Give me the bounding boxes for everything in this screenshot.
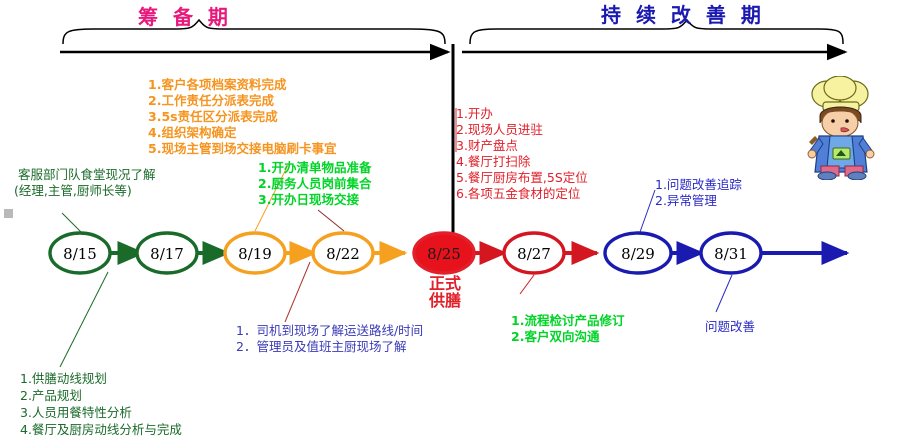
chef-character-icon [803, 76, 881, 180]
node-label-8-22[interactable]: 8/22 [313, 245, 373, 263]
annotation-red-open-item-4: 4.餐厅打扫除 [456, 155, 530, 170]
annotation-orange-prep-item-2: 2.工作责任分派表完成 [148, 94, 274, 109]
annotation-red-open-item-1: 1.开办 [456, 107, 493, 122]
annotation-green-plan-item-1: 1.供膳动线规划 [20, 372, 107, 387]
annotation-orange-prep-item-1: 1.客户各项档案资料完成 [148, 78, 286, 93]
phase-title-improvement: 持 续 改 善 期 [601, 4, 765, 28]
annotation-green-review-item-1: 1.流程检讨产品修订 [511, 314, 624, 329]
phase-title-preparation: 筹 备 期 [138, 6, 232, 30]
annotation-orange-prep-item-4: 4.组织架构确定 [148, 126, 236, 141]
annotation-green-review-item-2: 2.客户双向沟通 [511, 330, 599, 345]
annotation-blue-followup-item-1: 1.问题改善追踪 [655, 178, 742, 193]
annotation-green-plan-item-4: 4.餐厅及厨房动线分析与完成 [20, 423, 182, 438]
annotation-green-plan-item-2: 2.产品规划 [20, 389, 82, 404]
annotation-orange-prep-item-3: 3.5s责任区分派表完成 [148, 110, 278, 125]
leader-green-review [520, 275, 534, 294]
milestone-label-line-2: 供膳 [421, 292, 469, 310]
annotation-red-open-item-5: 5.餐厅厨房布置,5S定位 [456, 171, 588, 186]
annotation-blue-driver-item-2: 2．管理员及值班主厨现场了解 [236, 340, 406, 355]
leader-green-survey [62, 213, 82, 233]
annotation-green-open-item-3: 3.开办日现场交接 [258, 193, 359, 208]
node-label-8-31[interactable]: 8/31 [701, 245, 761, 263]
timeline-diagram: 筹 备 期 持 续 改 善 期 1.客户各项档案资料完成 2.工作责任分派表完成… [0, 0, 900, 443]
annotation-red-open-item-2: 2.现场人员进驻 [456, 123, 543, 138]
node-label-8-29[interactable]: 8/29 [608, 245, 668, 263]
annotation-blue-followup-item-2: 2.异常管理 [655, 194, 717, 209]
node-label-8-25[interactable]: 8/25 [414, 245, 474, 263]
annotation-green-open-item-2: 2.厨务人员岗前集合 [258, 177, 371, 192]
annotation-orange-prep-item-5: 5.现场主管到场交接电脑刷卡事宜 [148, 142, 336, 157]
annotation-green-plan-item-3: 3.人员用餐特性分析 [20, 406, 132, 421]
leader-blue-driver [285, 262, 310, 322]
annotation-red-open-item-6: 6.各项五金食材的定位 [456, 187, 580, 202]
leader-blue-followup [640, 190, 655, 232]
node-label-8-27[interactable]: 8/27 [504, 245, 564, 263]
leader-green-plan [60, 272, 108, 367]
brace-prep [63, 20, 445, 44]
leader-green-open [318, 210, 344, 231]
annotation-red-open-item-3: 3.财产盘点 [456, 139, 518, 154]
annotation-green-survey-line-1: 客服部门队食堂现况了解 [18, 168, 156, 183]
corner-square-marker [4, 209, 13, 218]
node-label-8-17[interactable]: 8/17 [137, 245, 197, 263]
leader-blue-improve [716, 275, 732, 312]
annotation-green-open-item-1: 1.开办清单物品准备 [258, 161, 371, 176]
diagram-vector-layer [0, 0, 900, 443]
annotation-green-survey-line-2: (经理,主管,厨师长等) [14, 184, 132, 199]
node-label-8-19[interactable]: 8/19 [225, 245, 285, 263]
node-label-8-15[interactable]: 8/15 [50, 245, 110, 263]
annotation-blue-driver-item-1: 1．司机到现场了解运送路线/时间 [236, 324, 423, 339]
annotation-blue-improve-note: 问题改善 [705, 320, 755, 335]
